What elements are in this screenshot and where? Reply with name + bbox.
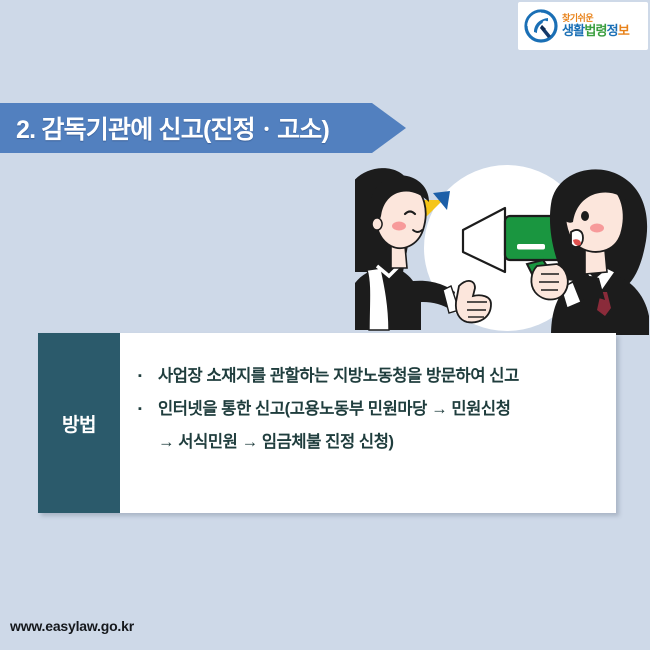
footer-url[interactable]: www.easylaw.go.kr	[10, 618, 134, 634]
method-body-cell: ▪ 사업장 소재지를 관할하는 지방노동청을 방문하여 신고 ▪ 인터넷을 통한…	[120, 333, 616, 513]
list-item: ▪ 인터넷을 통한 신고(고용노동부 민원마당 → 민원신청	[138, 396, 606, 423]
list-item-continuation: → 서식민원 → 임금체불 진정 신청)	[138, 429, 606, 456]
logo-name: 생활법령정보	[562, 24, 629, 38]
method-label: 방법	[62, 410, 96, 437]
bullet-square-icon: ▪	[138, 363, 158, 390]
logo-name-part4: 보	[618, 23, 629, 38]
two-people-megaphone-illustration	[355, 160, 650, 335]
slide-canvas: 찾기쉬운 생활법령정보 2. 감독기관에 신고(진정ㆍ고소)	[0, 0, 650, 650]
logo-name-part1: 생활	[562, 23, 584, 38]
list-item-text: 인터넷을 통한 신고(고용노동부 민원마당 → 민원신청	[158, 396, 511, 423]
logo-name-part2: 법령	[584, 23, 606, 38]
section-title-banner: 2. 감독기관에 신고(진정ㆍ고소)	[0, 103, 406, 153]
logo-name-part3: 정	[607, 23, 618, 38]
bullet-square-icon: ▪	[138, 396, 158, 423]
satellite-dish-icon	[524, 9, 558, 43]
list-item: ▪ 사업장 소재지를 관할하는 지방노동청을 방문하여 신고	[138, 363, 606, 390]
list-item-text: 사업장 소재지를 관할하는 지방노동청을 방문하여 신고	[158, 363, 519, 390]
logo-wordmark: 찾기쉬운 생활법령정보	[562, 14, 629, 37]
method-label-cell: 방법	[38, 333, 120, 513]
page-title: 2. 감독기관에 신고(진정ㆍ고소)	[0, 110, 329, 146]
site-logo[interactable]: 찾기쉬운 생활법령정보	[518, 2, 648, 50]
method-info-box: 방법 ▪ 사업장 소재지를 관할하는 지방노동청을 방문하여 신고 ▪ 인터넷을…	[38, 333, 616, 513]
